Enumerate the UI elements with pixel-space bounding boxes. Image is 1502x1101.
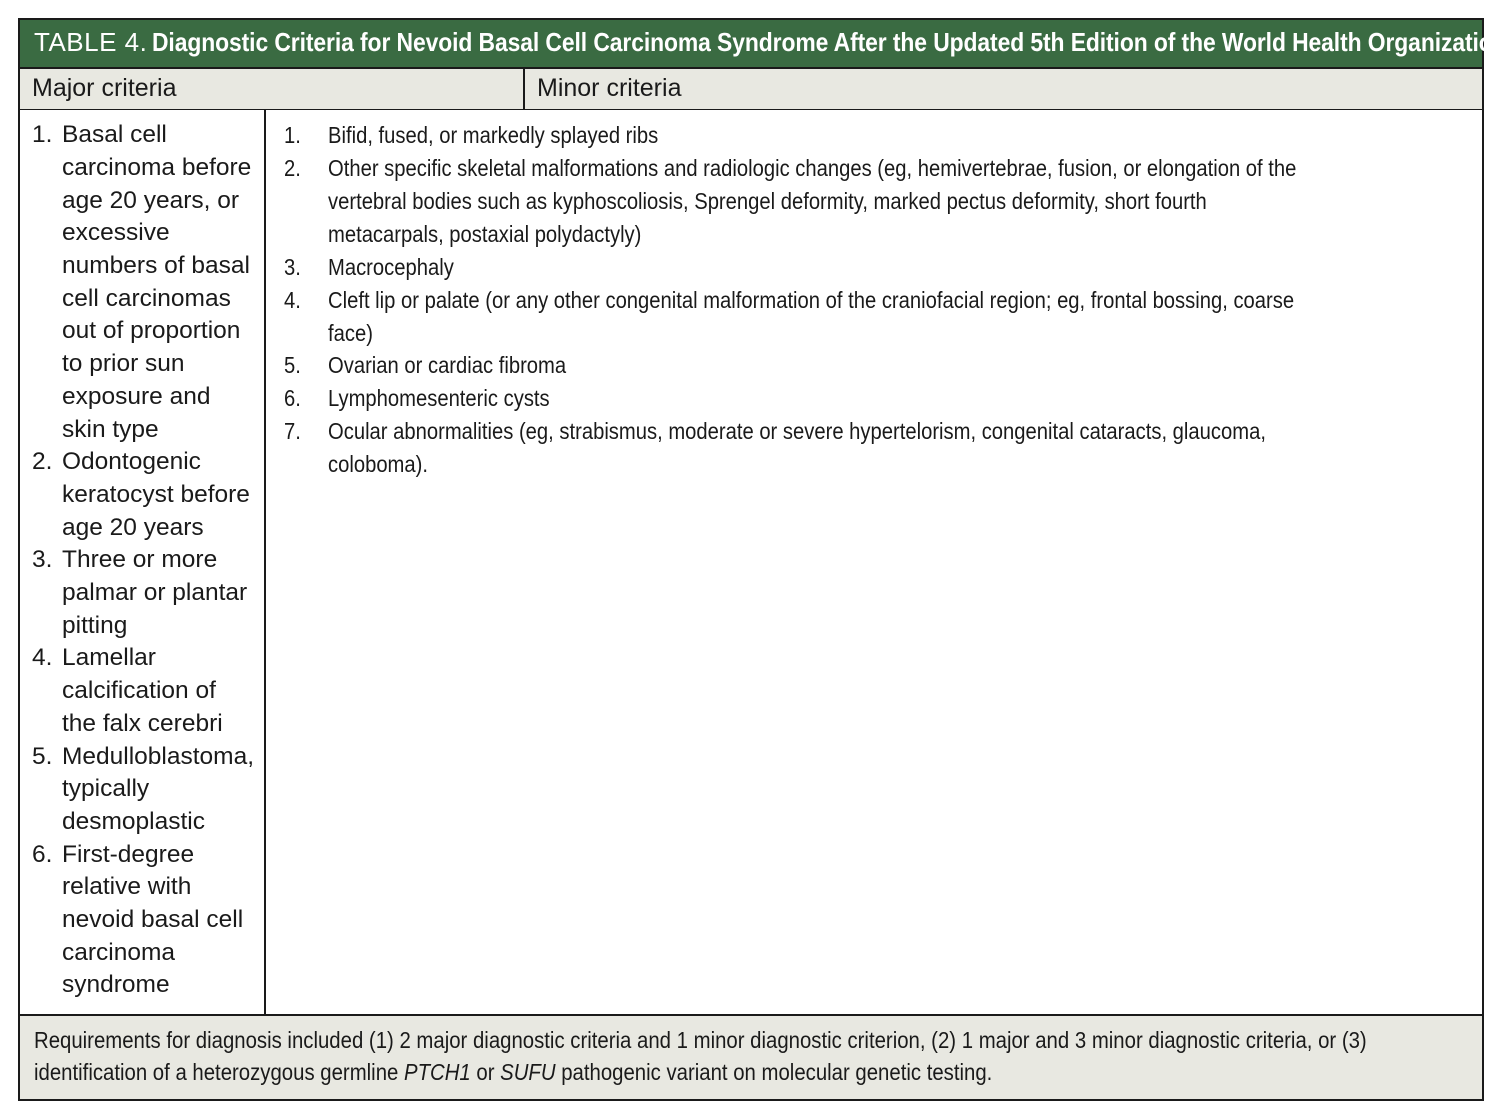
list-item: 6. First-degree relative with nevoid bas…	[32, 839, 254, 1003]
list-item-text: Odontogenic keratocyst before age 20 yea…	[62, 446, 254, 544]
list-item: 4. Cleft lip or palate (or any other con…	[284, 284, 1468, 350]
list-item-text: Other specific skeletal malformations an…	[328, 152, 1308, 251]
list-item-text: Macrocephaly	[328, 251, 1308, 284]
list-item-text: Lamellar calcification of the falx cereb…	[62, 642, 254, 740]
column-header-row: Major criteria Minor criteria	[20, 67, 1482, 110]
list-item-number: 5.	[32, 741, 62, 774]
list-item-text: Lymphomesenteric cysts	[328, 382, 1308, 415]
footnote-connector: or	[471, 1059, 500, 1085]
column-header-major: Major criteria	[20, 69, 525, 109]
list-item-number: 3.	[284, 251, 322, 284]
list-item-text: Three or more palmar or plantar pitting	[62, 544, 254, 642]
list-item-number: 4.	[32, 642, 62, 675]
table-title-banner: TABLE 4. Diagnostic Criteria for Nevoid …	[20, 20, 1482, 67]
list-item: 1. Bifid, fused, or markedly splayed rib…	[284, 119, 1468, 152]
list-item: 3. Three or more palmar or plantar pitti…	[32, 544, 254, 642]
list-item-number: 6.	[284, 382, 322, 415]
list-item: 5. Ovarian or cardiac fibroma	[284, 349, 1468, 382]
minor-criteria-cell: 1. Bifid, fused, or markedly splayed rib…	[266, 110, 1482, 1014]
gene-name-sufu: SUFU	[500, 1059, 555, 1085]
table-4: TABLE 4. Diagnostic Criteria for Nevoid …	[18, 18, 1484, 1101]
table-footnote: Requirements for diagnosis included (1) …	[20, 1016, 1482, 1098]
column-header-minor: Minor criteria	[525, 69, 1482, 109]
list-item: 3. Macrocephaly	[284, 251, 1468, 284]
table-label: TABLE 4.	[34, 27, 147, 57]
list-item-number: 1.	[284, 119, 322, 152]
list-item-text: Medulloblastoma, typically desmoplastic	[62, 741, 254, 839]
list-item: 6. Lymphomesenteric cysts	[284, 382, 1468, 415]
list-item-text: First-degree relative with nevoid basal …	[62, 839, 254, 1003]
list-item-text: Ocular abnormalities (eg, strabismus, mo…	[328, 415, 1308, 481]
minor-criteria-list: 1. Bifid, fused, or markedly splayed rib…	[284, 119, 1468, 481]
list-item-number: 2.	[284, 152, 322, 185]
gene-name-ptch1: PTCH1	[404, 1059, 471, 1085]
table-title-text: TABLE 4. Diagnostic Criteria for Nevoid …	[34, 27, 1468, 58]
list-item-number: 4.	[284, 284, 322, 317]
list-item: 5. Medulloblastoma, typically desmoplast…	[32, 741, 254, 839]
list-item-text: Basal cell carcinoma before age 20 years…	[62, 119, 254, 446]
list-item: 1. Basal cell carcinoma before age 20 ye…	[32, 119, 254, 446]
major-criteria-list: 1. Basal cell carcinoma before age 20 ye…	[32, 119, 254, 1002]
list-item: 4. Lamellar calcification of the falx ce…	[32, 642, 254, 740]
list-item-number: 2.	[32, 446, 62, 479]
footnote-text: Requirements for diagnosis included (1) …	[34, 1024, 1468, 1088]
table-title-main: Diagnostic Criteria for Nevoid Basal Cel…	[152, 27, 1502, 58]
list-item-number: 7.	[284, 415, 322, 448]
footnote-part2: pathogenic variant on molecular genetic …	[556, 1059, 993, 1085]
list-item-number: 5.	[284, 349, 322, 382]
table-title-string: Diagnostic Criteria for Nevoid Basal Cel…	[152, 27, 1502, 57]
list-item-number: 6.	[32, 839, 62, 872]
major-criteria-cell: 1. Basal cell carcinoma before age 20 ye…	[20, 110, 266, 1014]
list-item: 2. Other specific skeletal malformations…	[284, 152, 1468, 251]
list-item-text: Cleft lip or palate (or any other congen…	[328, 284, 1308, 350]
list-item-number: 1.	[32, 119, 62, 152]
list-item-text: Bifid, fused, or markedly splayed ribs	[328, 119, 1308, 152]
list-item-text: Ovarian or cardiac fibroma	[328, 349, 1308, 382]
table-body-row: 1. Basal cell carcinoma before age 20 ye…	[20, 110, 1482, 1016]
list-item: 7. Ocular abnormalities (eg, strabismus,…	[284, 415, 1468, 481]
list-item-number: 3.	[32, 544, 62, 577]
list-item: 2. Odontogenic keratocyst before age 20 …	[32, 446, 254, 544]
